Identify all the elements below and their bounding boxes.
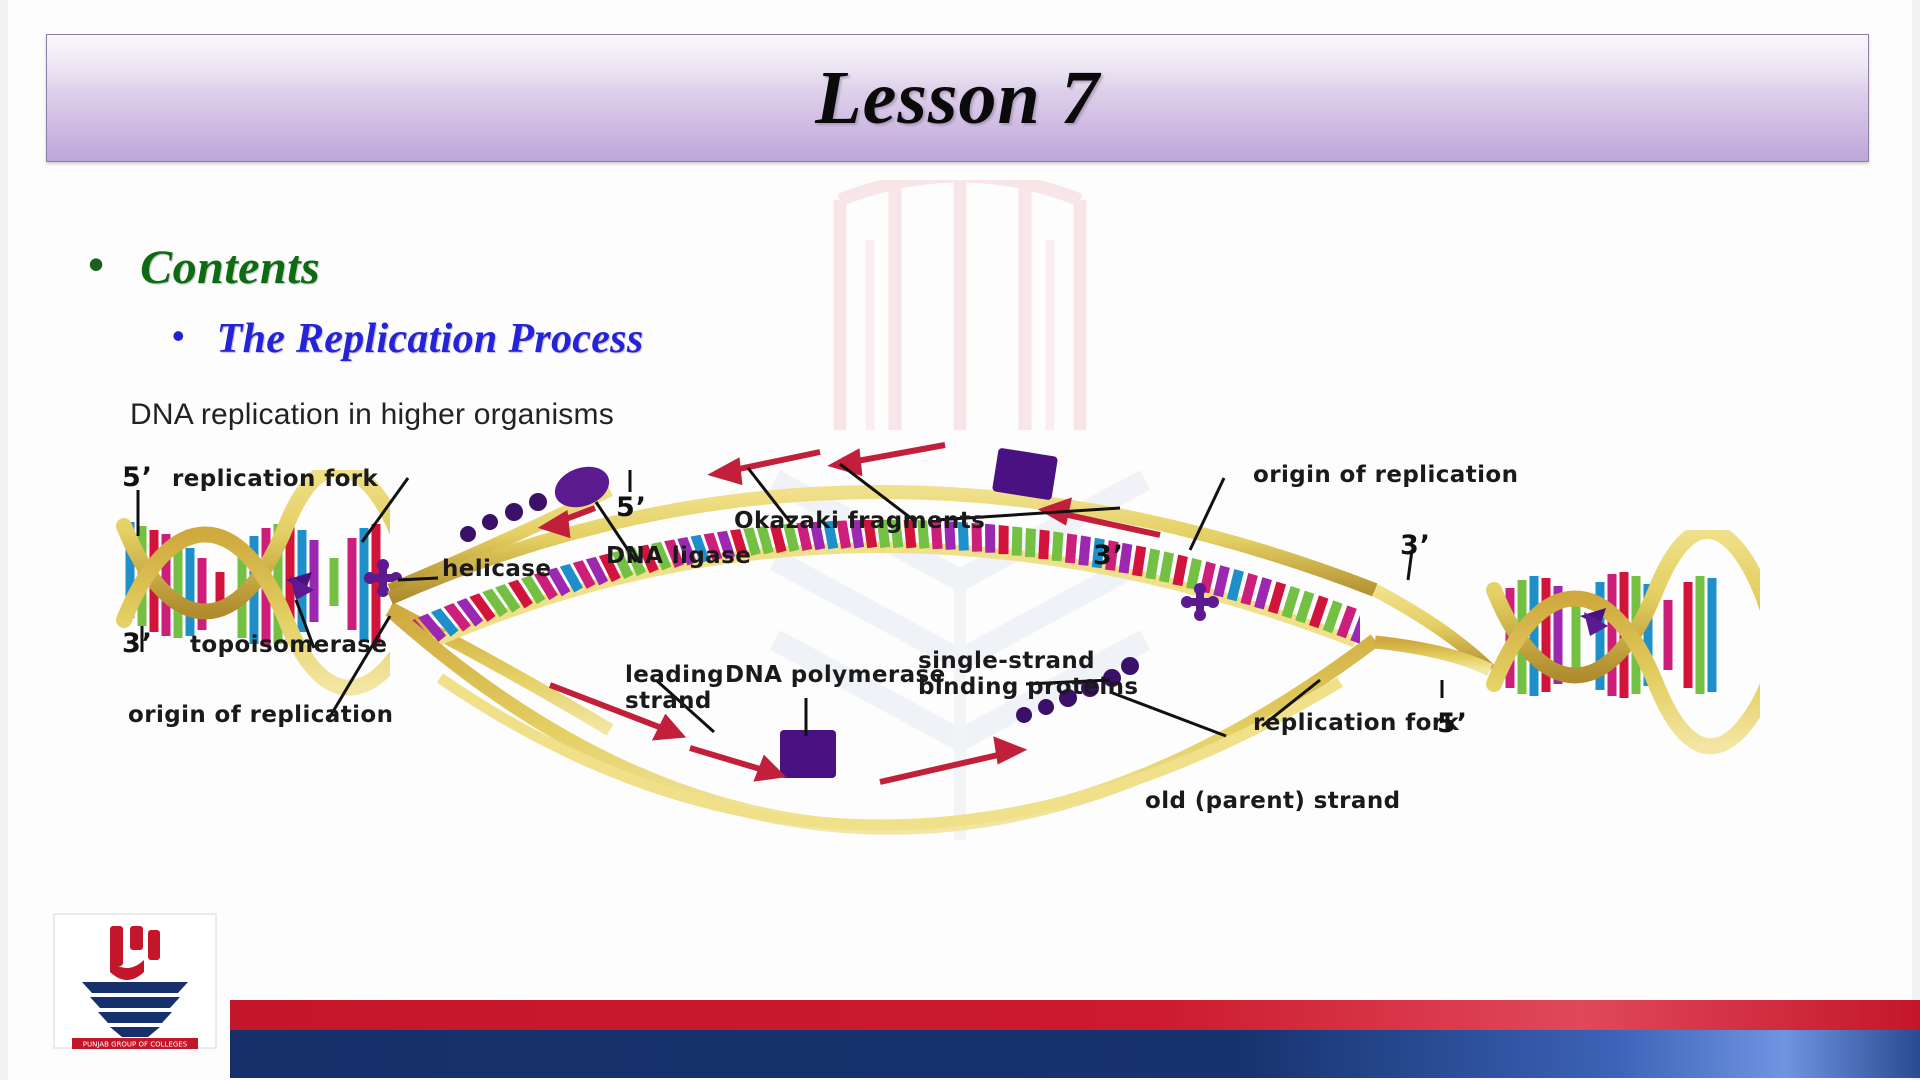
footer-bar-red <box>230 1000 1920 1030</box>
slide-title-bar: Lesson 7 <box>46 34 1869 162</box>
sub-bullet-marker-icon: • <box>172 316 185 356</box>
label-dna-polymerase: DNA polymerase <box>725 662 946 688</box>
label-replication-fork-left: replication fork <box>172 466 378 492</box>
footer-bar-navy <box>230 1030 1920 1078</box>
bullet-replication-process-label: The Replication Process <box>217 316 644 362</box>
logo-caption: PUNJAB GROUP OF COLLEGES <box>83 1041 188 1049</box>
slide-right-edge <box>1912 0 1920 1080</box>
right-parent-helix <box>1494 531 1770 747</box>
dna-polymerase-top-marker-icon <box>992 448 1058 501</box>
label-okazaki-fragments: Okazaki fragments <box>734 508 985 534</box>
bullet-contents-label: Contents <box>140 242 320 294</box>
label-leading-strand: leading strand <box>625 662 724 714</box>
label-ssb-proteins: single-strand binding proteins <box>918 648 1138 700</box>
slide-left-edge <box>0 0 8 1080</box>
punjab-group-of-colleges-logo: PUNJAB GROUP OF COLLEGES <box>52 912 218 1050</box>
label-origin-of-replication-right: origin of replication <box>1253 462 1518 488</box>
label-three-prime-left: 3’ <box>122 628 153 659</box>
bullet-replication-process: • The Replication Process <box>172 316 643 362</box>
footer-bars <box>230 1000 1920 1078</box>
dna-polymerase-bottom-marker-icon <box>780 730 836 778</box>
bullet-marker-icon: • <box>88 242 104 286</box>
figure-caption: DNA replication in higher organisms <box>130 398 614 432</box>
label-old-parent-strand: old (parent) strand <box>1145 788 1400 814</box>
label-five-prime-right: 5’ <box>1437 708 1468 739</box>
page-title: Lesson 7 <box>815 55 1100 142</box>
slide-canvas: Lesson 7 • Contents • The Replication Pr… <box>0 0 1920 1080</box>
label-three-prime-center-right: 3’ <box>1093 540 1124 571</box>
label-replication-fork-right: replication fork <box>1253 710 1459 736</box>
label-five-prime-center: 5’ <box>616 492 647 523</box>
label-origin-of-replication-left: origin of replication <box>128 702 393 728</box>
label-helicase: helicase <box>442 556 551 582</box>
bullet-contents: • Contents <box>88 242 320 294</box>
dna-replication-diagram: 5’ replication fork 3’ topoisomerase hel… <box>90 430 1850 1010</box>
label-topoisomerase: topoisomerase <box>190 632 387 658</box>
label-dna-ligase: DNA ligase <box>606 543 751 569</box>
label-five-prime-left-top: 5’ <box>122 462 153 493</box>
label-three-prime-right: 3’ <box>1400 530 1431 561</box>
